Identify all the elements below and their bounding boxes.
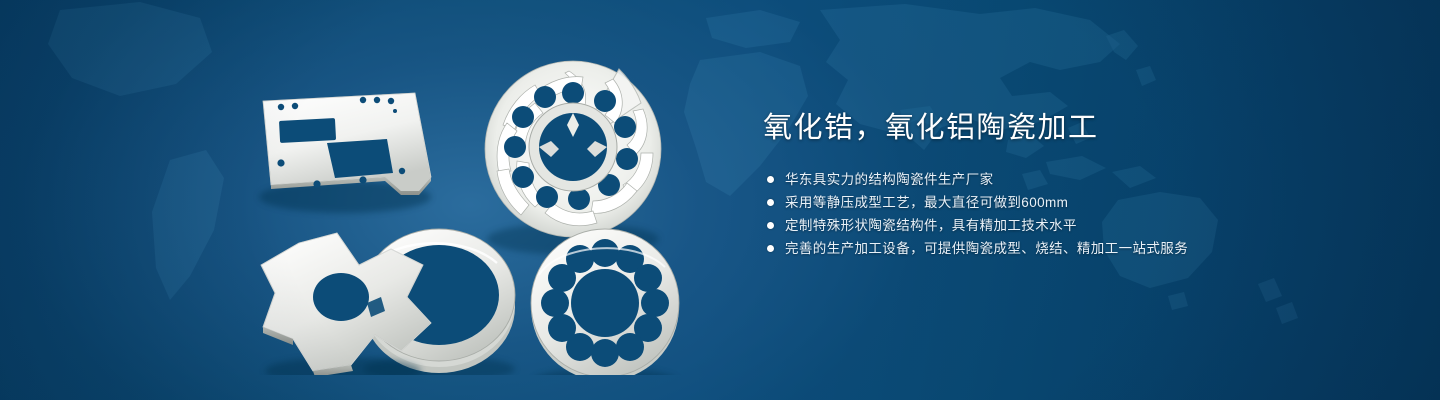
bullet-dot-icon bbox=[767, 222, 774, 229]
ceramic-impeller bbox=[485, 61, 661, 255]
page-title: 氧化锆，氧化铝陶瓷加工 bbox=[763, 108, 1323, 148]
ceramic-perforated-disc bbox=[531, 229, 679, 375]
bullet-dot-icon bbox=[767, 245, 774, 252]
ceramic-products-image bbox=[235, 45, 705, 375]
list-item: 华东具实力的结构陶瓷件生产厂家 bbox=[763, 168, 1323, 191]
ceramic-plate bbox=[259, 93, 431, 213]
list-item-label: 采用等静压成型工艺，最大直径可做到600mm bbox=[785, 191, 1068, 214]
bullet-dot-icon bbox=[767, 199, 774, 206]
list-item: 完善的生产加工设备，可提供陶瓷成型、烧结、精加工一站式服务 bbox=[763, 237, 1323, 260]
list-item: 定制特殊形状陶瓷结构件，具有精加工技术水平 bbox=[763, 214, 1323, 237]
list-item-label: 华东具实力的结构陶瓷件生产厂家 bbox=[785, 168, 994, 191]
list-item: 采用等静压成型工艺，最大直径可做到600mm bbox=[763, 191, 1323, 214]
feature-list: 华东具实力的结构陶瓷件生产厂家 采用等静压成型工艺，最大直径可做到600mm 定… bbox=[763, 168, 1323, 260]
hero-banner: 氧化锆，氧化铝陶瓷加工 华东具实力的结构陶瓷件生产厂家 采用等静压成型工艺，最大… bbox=[0, 0, 1440, 400]
list-item-label: 定制特殊形状陶瓷结构件，具有精加工技术水平 bbox=[785, 214, 1077, 237]
banner-copy: 氧化锆，氧化铝陶瓷加工 华东具实力的结构陶瓷件生产厂家 采用等静压成型工艺，最大… bbox=[763, 108, 1323, 260]
bullet-dot-icon bbox=[767, 176, 774, 183]
list-item-label: 完善的生产加工设备，可提供陶瓷成型、烧结、精加工一站式服务 bbox=[785, 237, 1188, 260]
